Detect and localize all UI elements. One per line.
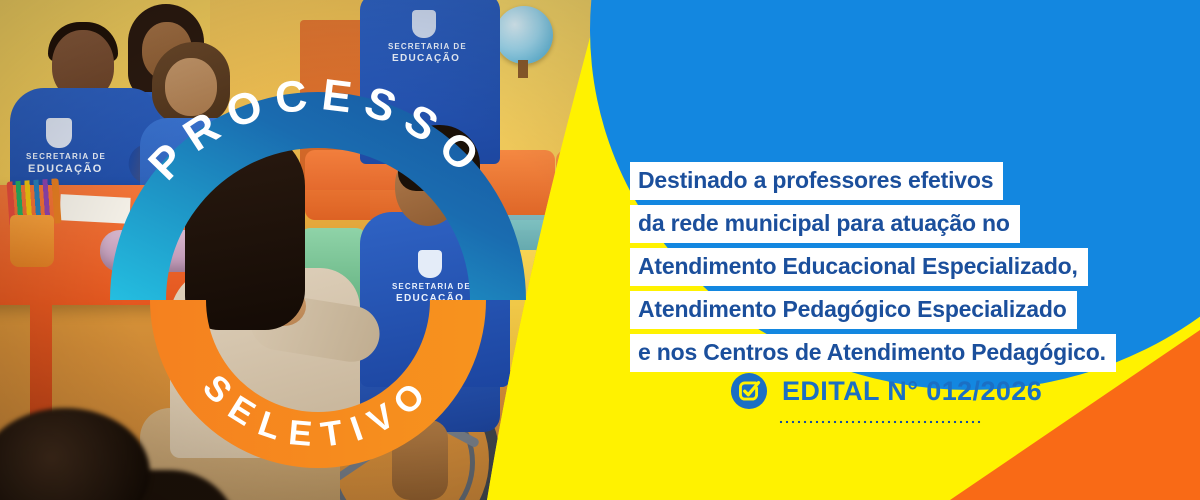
- dotted-divider: [778, 420, 983, 424]
- message-text-block: Destinado a professores efetivos da rede…: [630, 162, 1116, 372]
- check-circle-icon: [730, 372, 768, 410]
- processo-seletivo-banner: SECRETARIA DE EDUCAÇÃO SECRETARIA DE EDU…: [0, 0, 1200, 500]
- message-line: Destinado a professores efetivos: [630, 162, 1003, 200]
- edital-label: EDITAL N° 012/2026: [782, 376, 1042, 407]
- message-line: da rede municipal para atuação no: [630, 205, 1020, 243]
- message-line: e nos Centros de Atendimento Pedagógico.: [630, 334, 1116, 372]
- message-line: Atendimento Pedagógico Especializado: [630, 291, 1077, 329]
- message-line: Atendimento Educacional Especializado,: [630, 248, 1088, 286]
- edital-row: EDITAL N° 012/2026: [730, 372, 1042, 410]
